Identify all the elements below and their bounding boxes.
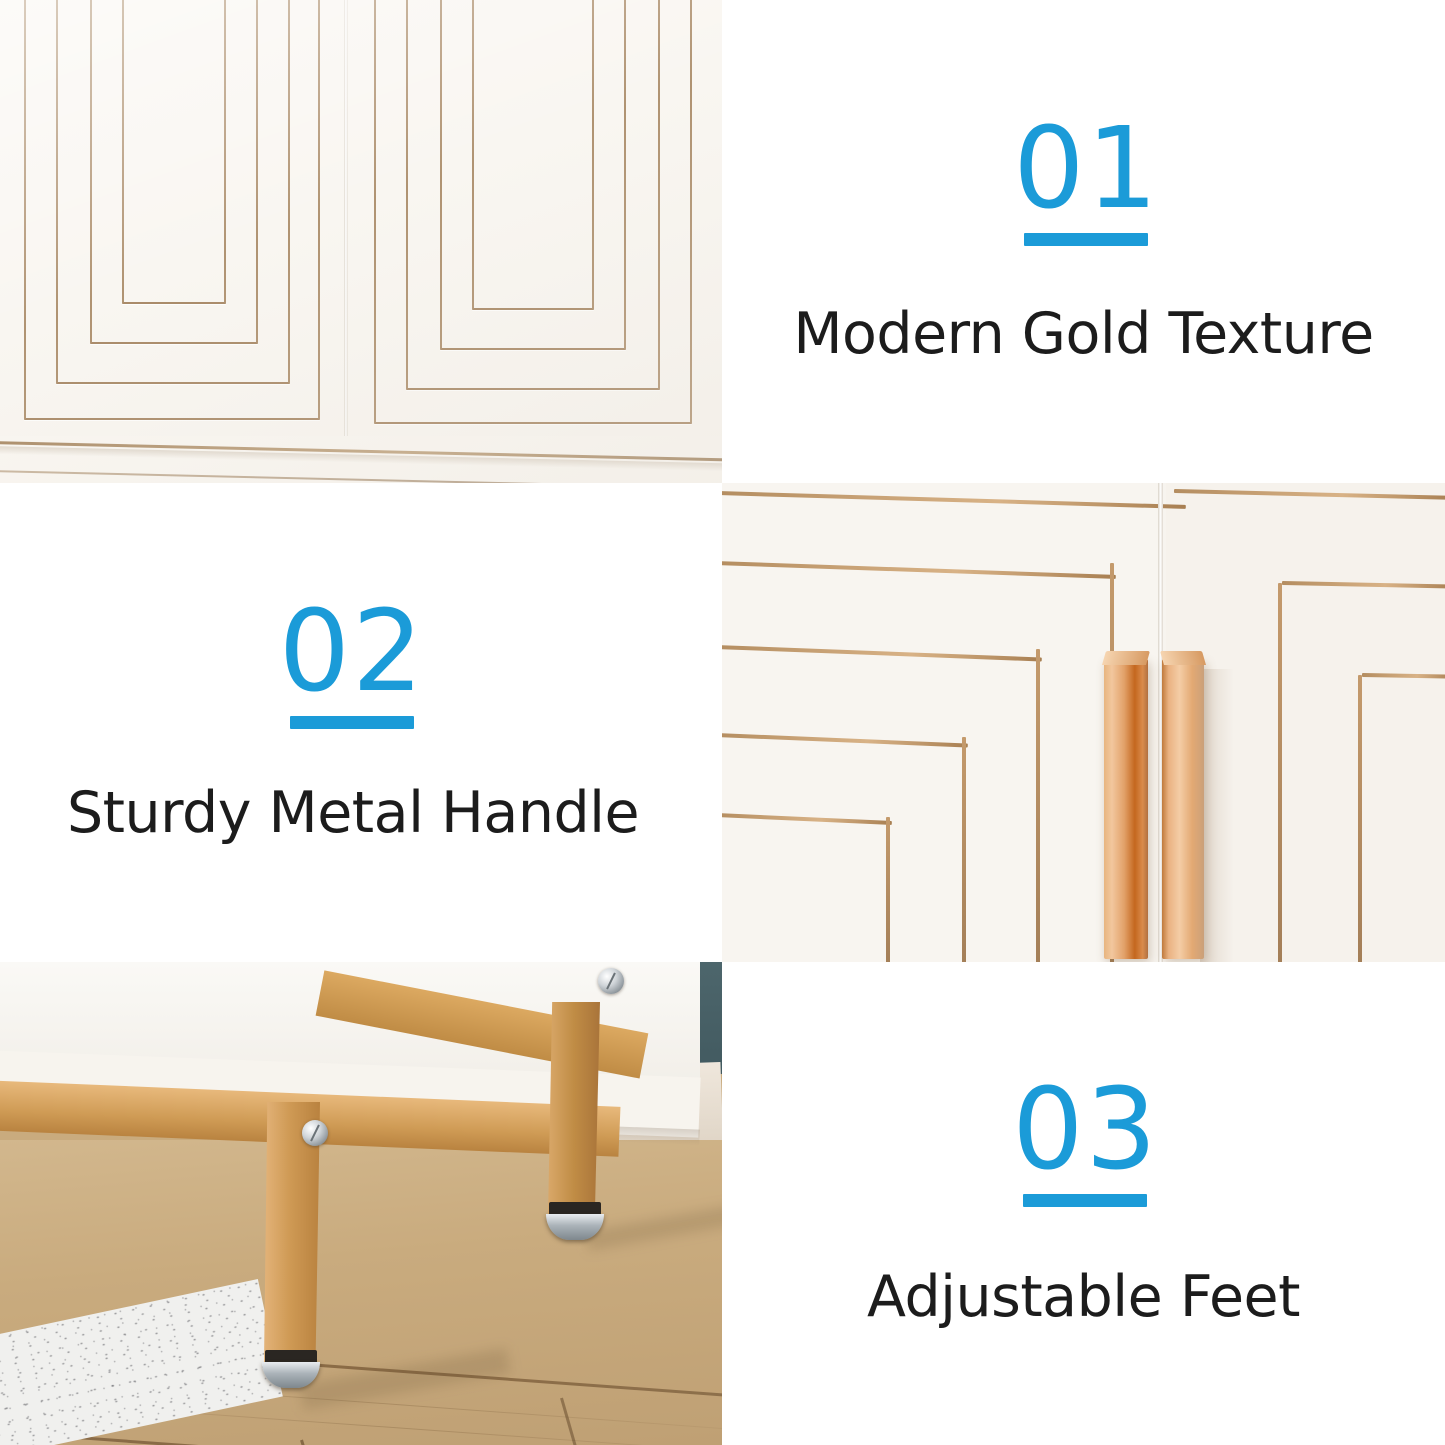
feature-caption-01: Modern Gold Texture: [793, 304, 1373, 366]
area-rug: [0, 1279, 283, 1445]
feature-caption-02: Sturdy Metal Handle: [67, 783, 639, 845]
cabinet-door-scene: [0, 0, 722, 483]
gold-step-line: [1278, 583, 1282, 962]
feature-number-03: 03: [1012, 1079, 1159, 1207]
caption-panel-01: 01 Modern Gold Texture: [722, 0, 1445, 483]
handle-shadow: [1200, 669, 1234, 962]
gold-step-line: [1358, 675, 1362, 962]
feature-number-text: 01: [1013, 118, 1160, 221]
screw-icon: [302, 1120, 328, 1146]
caption-panel-03: 03 Adjustable Feet: [722, 962, 1445, 1445]
cabinet-door-left: [0, 0, 346, 436]
caption-panel-02: 02 Sturdy Metal Handle: [0, 483, 722, 962]
number-underline: [1023, 1194, 1147, 1207]
feature-number-02: 02: [279, 601, 426, 729]
handle-bar-top: [1102, 651, 1150, 665]
feature-number-01: 01: [1013, 118, 1160, 246]
floor-plank-seam: [300, 1440, 358, 1445]
feature-number-text: 02: [279, 601, 426, 704]
gold-groove-line: [122, 0, 226, 304]
feet-scene: [0, 962, 722, 1445]
photo-cabinet-doors: [0, 0, 722, 483]
handle-scene: [722, 483, 1445, 962]
gold-step-line: [1036, 649, 1040, 962]
photo-metal-handle: [722, 483, 1445, 962]
gold-groove-line: [472, 0, 594, 310]
screw-icon: [598, 968, 624, 994]
number-underline: [1024, 233, 1148, 246]
number-underline: [290, 716, 414, 729]
feature-number-text: 03: [1012, 1079, 1159, 1182]
feature-infographic: 01 Modern Gold Texture 02 Sturdy Metal H…: [0, 0, 1445, 1445]
door-seam: [344, 0, 348, 436]
handle-bar-top: [1160, 651, 1206, 665]
handle-door-left: [722, 483, 1162, 962]
photo-adjustable-feet: [0, 962, 722, 1445]
floor-plank-seam: [560, 1398, 604, 1445]
cabinet-door-right: [348, 0, 722, 436]
gold-leg-back: [548, 1002, 600, 1217]
handle-bar-right: [1162, 659, 1204, 959]
gold-step-line: [886, 817, 890, 962]
feature-caption-03: Adjustable Feet: [867, 1267, 1300, 1329]
gold-step-line: [962, 737, 966, 962]
handle-bar-left: [1104, 659, 1148, 959]
